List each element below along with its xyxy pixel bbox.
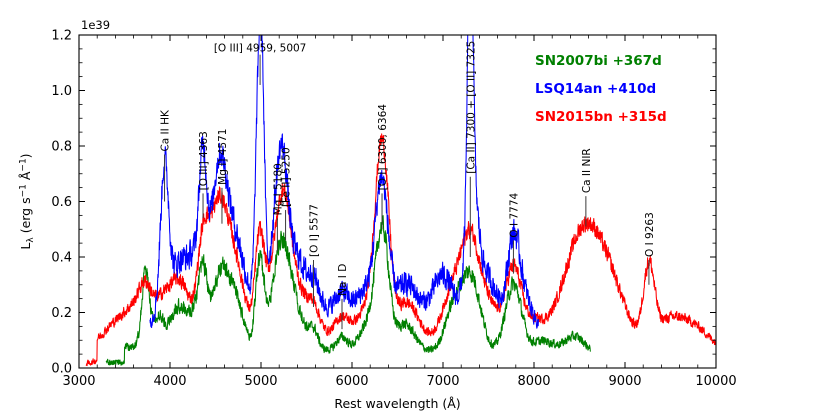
spectrum-figure: 3000400050006000700080009000100000.00.20… — [0, 0, 830, 415]
legend-item-2: SN2015bn +315d — [535, 109, 667, 125]
x-tick-label: 4000 — [153, 374, 186, 389]
annotation-label-12: O I 9263 — [644, 212, 656, 257]
y-tick-label: 0.4 — [51, 251, 72, 266]
y-tick-label: 0.0 — [51, 362, 72, 377]
x-tick-label: 9000 — [608, 374, 641, 389]
y-axis-offset-text: 1e39 — [81, 18, 110, 32]
y-tick-label: 1.0 — [51, 84, 72, 99]
x-tick-label: 5000 — [244, 374, 277, 389]
x-tick-label: 7000 — [426, 374, 459, 389]
legend-item-0: SN2007bi +367d — [535, 53, 662, 69]
annotation-label-5: [Fe II] 5250 — [281, 147, 293, 207]
annotation-label-10: O I 7774 — [508, 192, 520, 237]
x-tick-label: 6000 — [335, 374, 368, 389]
annotation-label-8: [O I] 6300, 6364 — [377, 104, 389, 191]
annotation-label-6: [O I] 5577 — [309, 204, 321, 257]
annotation-label-0: Ca II HK — [160, 109, 172, 152]
spectrum-plot-svg: 3000400050006000700080009000100000.00.20… — [0, 0, 830, 415]
x-tick-label: 10000 — [695, 374, 736, 389]
y-tick-label: 0.6 — [51, 195, 72, 210]
y-tick-label: 0.8 — [51, 140, 72, 155]
annotation-label-11: Ca II NIR — [581, 148, 593, 193]
annotation-label-1: [O III] 4363 — [198, 131, 210, 190]
y-tick-label: 1.2 — [51, 29, 72, 44]
y-tick-label: 0.2 — [51, 306, 72, 321]
annotation-label-2: Mg I] 4571 — [217, 129, 229, 185]
annotation-label-9: [Ca II] 7300 + [O II] 7325 — [465, 41, 477, 174]
x-axis-title: Rest wavelength (Å) — [334, 396, 460, 411]
annotation-label-3: [O III] 4959, 5007 — [214, 43, 307, 55]
x-tick-label: 8000 — [517, 374, 550, 389]
y-axis-title: Lλ (erg s−1 Å−1) — [18, 153, 36, 249]
annotation-label-7: Na I D — [337, 264, 349, 296]
legend-item-1: LSQ14an +410d — [535, 81, 656, 97]
